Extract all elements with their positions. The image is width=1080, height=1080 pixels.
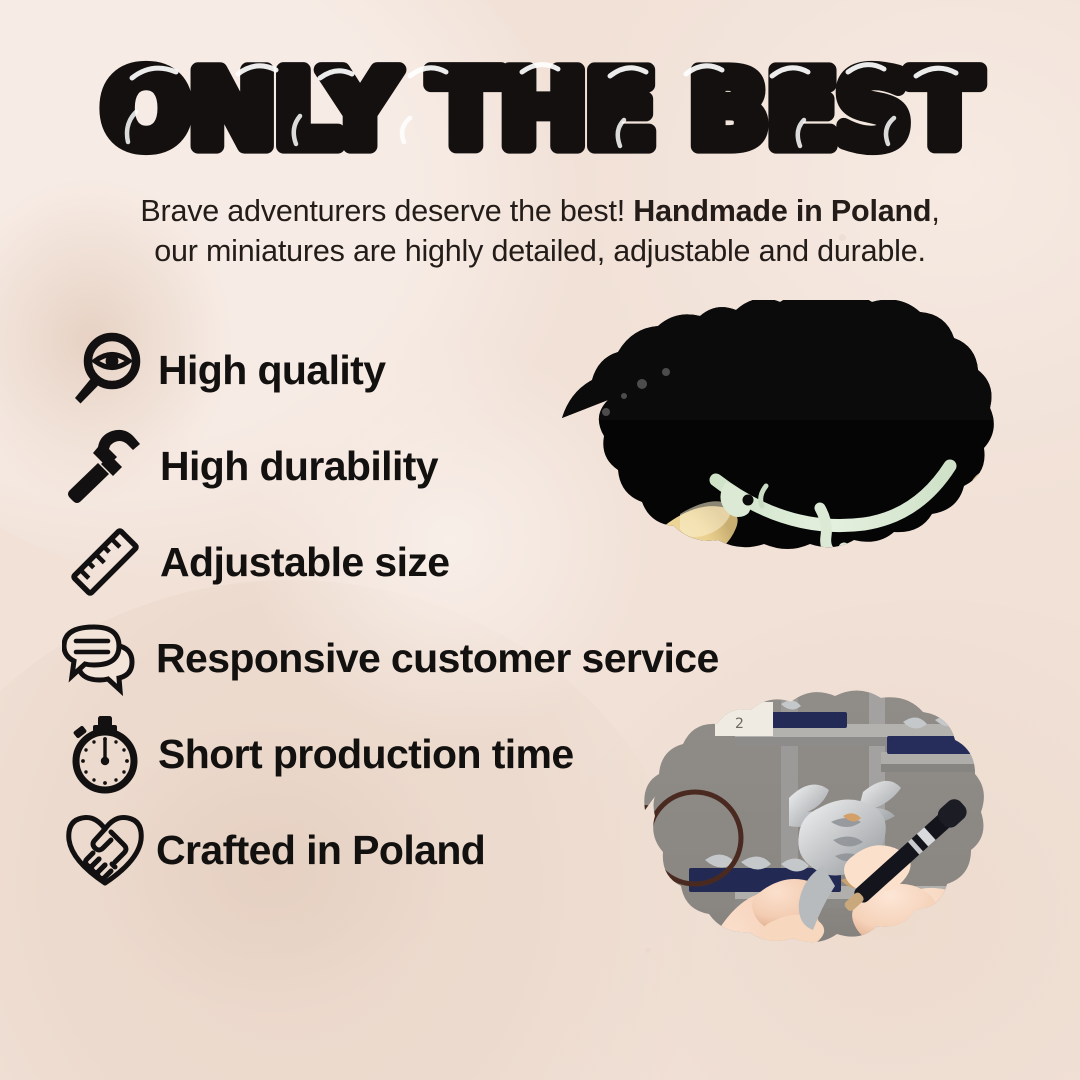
subtitle: Brave adventurers deserve the best! Hand…: [90, 192, 990, 272]
subtitle-text-pre: Brave adventurers deserve the best!: [140, 194, 625, 228]
headline-wrapper: ONLY THE BEST: [0, 34, 1080, 174]
feature-label: Responsive customer service: [156, 635, 719, 682]
subtitle-text-bold: Handmade in Poland: [633, 194, 931, 228]
page-title: ONLY THE BEST: [102, 49, 980, 171]
feature-label: Short production time: [158, 731, 574, 778]
subtitle-line-2: our miniatures are highly detailed, adju…: [90, 232, 990, 272]
feature-label: High durability: [160, 443, 438, 490]
feature-label: High quality: [158, 347, 385, 394]
stopwatch-icon: [62, 711, 148, 797]
speech-bubbles-icon: [62, 615, 148, 701]
promo-poster: ONLY THE BEST: [0, 0, 1080, 1080]
headline-graphic: ONLY THE BEST: [0, 34, 1080, 174]
workshop-painting-photo: 2: [585, 690, 1080, 1080]
ruler-icon: [62, 519, 148, 605]
hammer-icon: [62, 423, 148, 509]
subtitle-text-post: ,: [931, 194, 939, 228]
feature-label: Crafted in Poland: [156, 827, 485, 874]
svg-text:2: 2: [735, 716, 744, 732]
handshake-heart-icon: [62, 807, 148, 893]
magnifier-eye-icon: [62, 327, 148, 413]
flexible-miniature-photo: [520, 300, 1080, 630]
subtitle-line-1: Brave adventurers deserve the best! Hand…: [90, 192, 990, 232]
feature-label: Adjustable size: [160, 539, 449, 586]
